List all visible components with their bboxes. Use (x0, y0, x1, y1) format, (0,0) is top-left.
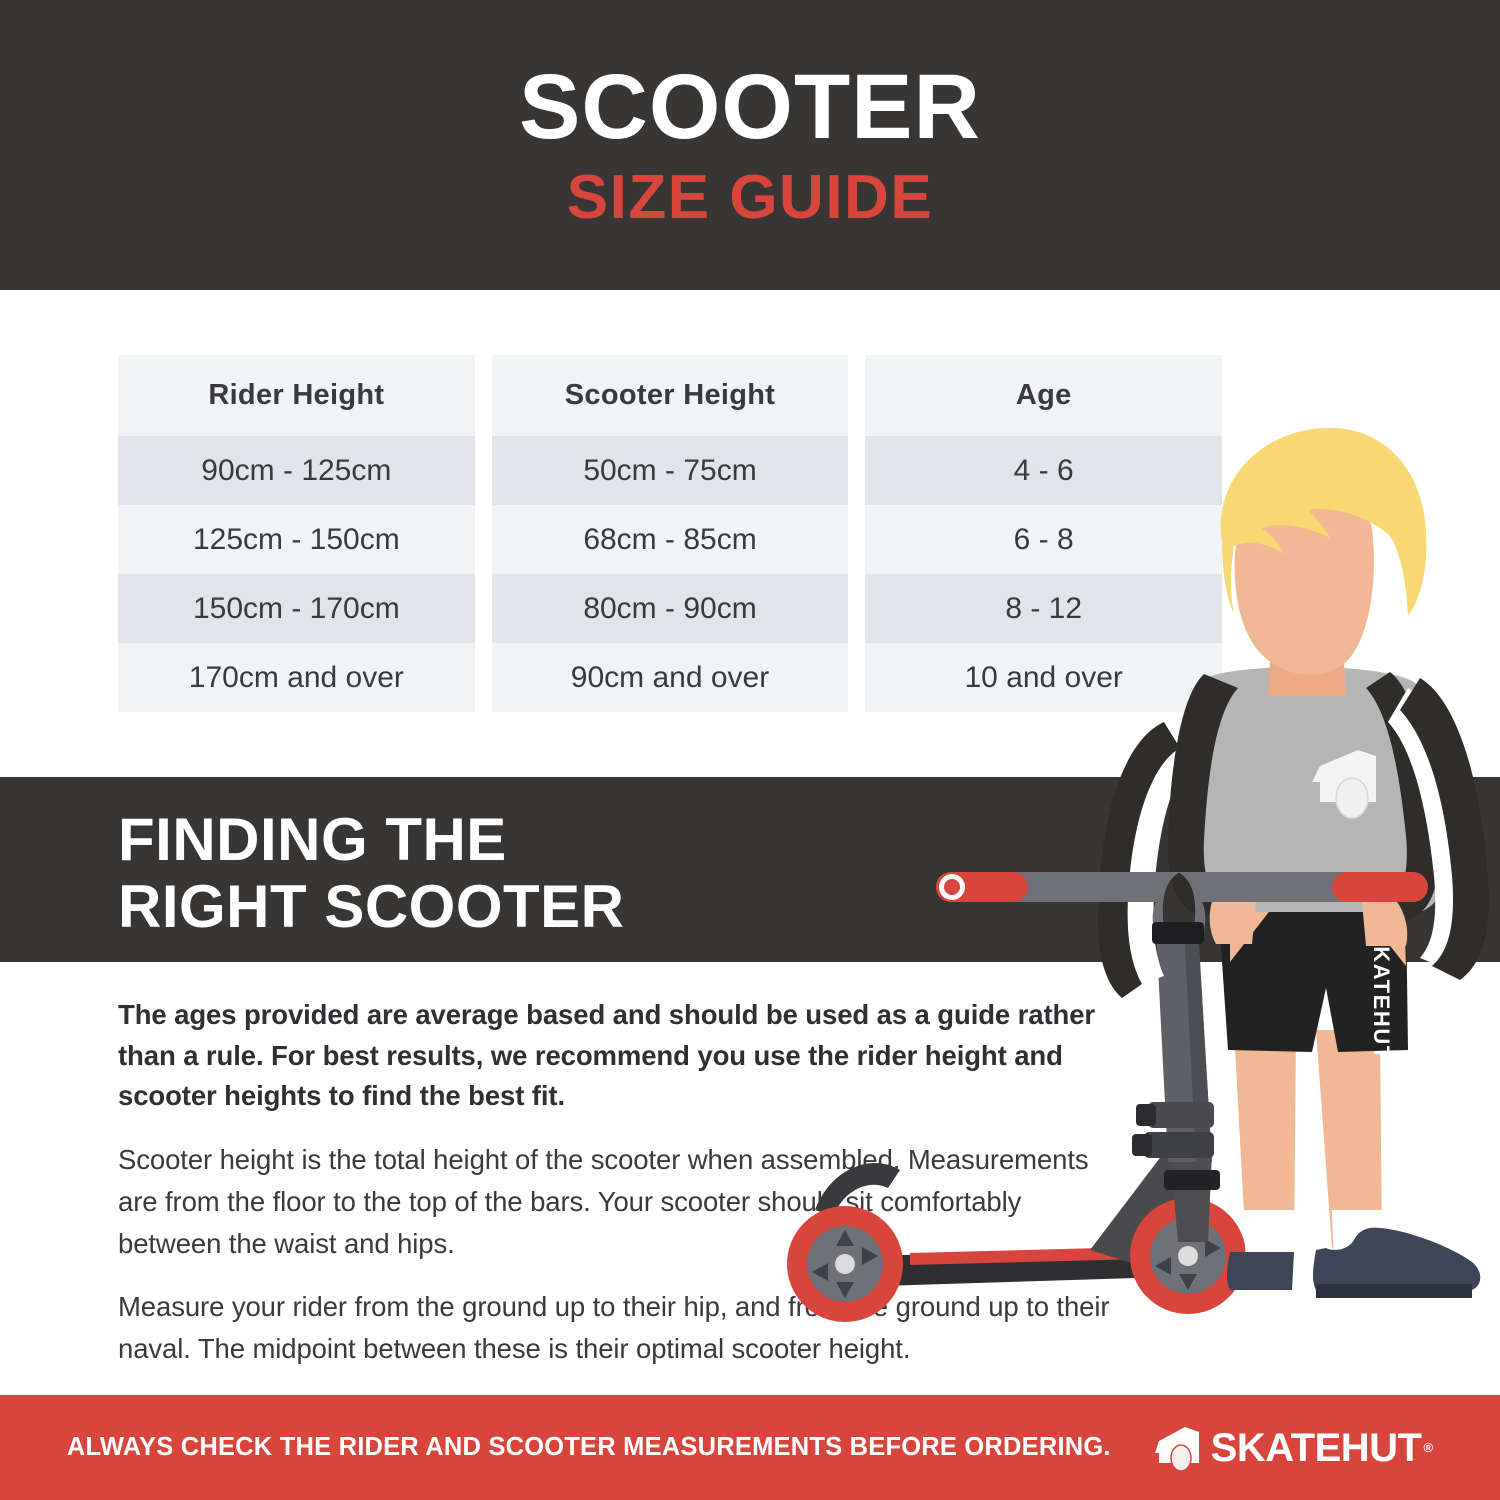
table-row: 8 - 12 (865, 574, 1222, 643)
shoe-left (1227, 1252, 1294, 1290)
shoe-right (1313, 1228, 1480, 1290)
table-column-scooter-height: Scooter Height 50cm - 75cm 68cm - 85cm 8… (492, 355, 849, 712)
registered-mark: ® (1423, 1440, 1433, 1455)
paragraph-scooter-height: Scooter height is the total height of th… (118, 1139, 1123, 1264)
page-subtitle: SIZE GUIDE (567, 167, 933, 229)
paragraph-measuring: Measure your rider from the ground up to… (118, 1286, 1123, 1370)
table-row: 10 and over (865, 643, 1222, 712)
table-row: 68cm - 85cm (492, 505, 849, 574)
table-row: 50cm - 75cm (492, 436, 849, 505)
table-row: 90cm - 125cm (118, 436, 475, 505)
hair (1221, 428, 1427, 616)
column-header: Scooter Height (492, 355, 849, 436)
page-title: SCOOTER (519, 61, 981, 153)
front-wheel (1130, 1198, 1246, 1314)
footer-banner: ALWAYS CHECK THE RIDER AND SCOOTER MEASU… (0, 1395, 1500, 1500)
face (1235, 467, 1374, 675)
table-column-rider-height: Rider Height 90cm - 125cm 125cm - 150cm … (118, 355, 475, 712)
header-banner: SCOOTER SIZE GUIDE (0, 0, 1500, 290)
table-row: 4 - 6 (865, 436, 1222, 505)
table-row: 125cm - 150cm (118, 505, 475, 574)
body-copy: The ages provided are average based and … (118, 995, 1123, 1370)
size-table: Rider Height 90cm - 125cm 125cm - 150cm … (118, 355, 1222, 712)
section-heading: FINDING THE RIGHT SCOOTER (118, 806, 625, 940)
paragraph-lead: The ages provided are average based and … (118, 995, 1123, 1117)
table-column-age: Age 4 - 6 6 - 8 8 - 12 10 and over (865, 355, 1222, 712)
hut-icon (1155, 1425, 1203, 1471)
table-row: 80cm - 90cm (492, 574, 849, 643)
logo-wordmark: SKATEHUT (1211, 1428, 1422, 1468)
footer-notice: ALWAYS CHECK THE RIDER AND SCOOTER MEASU… (67, 1433, 1111, 1462)
table-row: 150cm - 170cm (118, 574, 475, 643)
column-header: Rider Height (118, 355, 475, 436)
table-row: 90cm and over (492, 643, 849, 712)
skatehut-logo: SKATEHUT ® (1155, 1425, 1433, 1471)
table-row: 170cm and over (118, 643, 475, 712)
table-row: 6 - 8 (865, 505, 1222, 574)
column-header: Age (865, 355, 1222, 436)
